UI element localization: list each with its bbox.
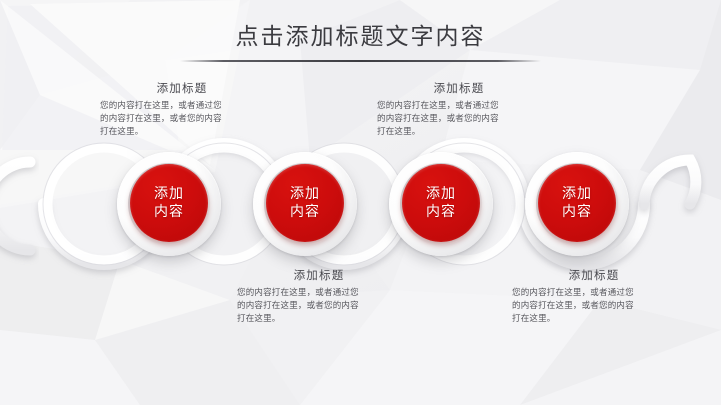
- node-disc-1[interactable]: 添加 内容: [130, 164, 208, 242]
- text-line: 打在这里。: [512, 313, 680, 326]
- node-disc-3[interactable]: 添加 内容: [402, 164, 480, 242]
- node-label-2-line1: 添加: [290, 185, 320, 203]
- text-line: 打在这里。: [100, 126, 268, 139]
- text-line: 的内容打在这里，或者您的内容: [100, 113, 268, 126]
- node-label-3-line2: 内容: [426, 203, 456, 221]
- node-disc-4[interactable]: 添加 内容: [538, 164, 616, 242]
- text-block-bottom-left-title: 添加标题: [233, 267, 405, 283]
- text-line: 您的内容打在这里，或者通过您: [237, 287, 405, 300]
- text-block-top-right-title: 添加标题: [373, 80, 545, 96]
- node-circle-1[interactable]: 添加 内容: [117, 152, 221, 256]
- text-block-top-left-body: 您的内容打在这里，或者通过您 的内容打在这里，或者您的内容 打在这里。: [96, 100, 268, 139]
- title-divider: [180, 60, 541, 62]
- text-block-bottom-right-title: 添加标题: [508, 267, 680, 283]
- text-line: 打在这里。: [377, 126, 545, 139]
- text-block-bottom-left: 添加标题 您的内容打在这里，或者通过您 的内容打在这里，或者您的内容 打在这里。: [233, 267, 405, 326]
- text-block-top-right: 添加标题 您的内容打在这里，或者通过您 的内容打在这里，或者您的内容 打在这里。: [373, 80, 545, 139]
- text-block-top-right-body: 您的内容打在这里，或者通过您 的内容打在这里，或者您的内容 打在这里。: [373, 100, 545, 139]
- page-title-text: 点击添加标题文字内容: [0, 22, 721, 52]
- node-label-1-line1: 添加: [154, 185, 184, 203]
- text-block-top-left: 添加标题 您的内容打在这里，或者通过您 的内容打在这里，或者您的内容 打在这里。: [96, 80, 268, 139]
- slide-canvas: 点击添加标题文字内容: [0, 0, 721, 405]
- text-line: 的内容打在这里，或者您的内容: [237, 300, 405, 313]
- node-label-4-line1: 添加: [562, 185, 592, 203]
- node-label-4-line2: 内容: [562, 203, 592, 221]
- text-line: 您的内容打在这里，或者通过您: [512, 287, 680, 300]
- node-circle-2[interactable]: 添加 内容: [253, 152, 357, 256]
- text-block-bottom-left-body: 您的内容打在这里，或者通过您 的内容打在这里，或者您的内容 打在这里。: [233, 287, 405, 326]
- text-line: 打在这里。: [237, 313, 405, 326]
- node-circle-3[interactable]: 添加 内容: [389, 152, 493, 256]
- node-circle-4[interactable]: 添加 内容: [525, 152, 629, 256]
- page-title: 点击添加标题文字内容: [0, 22, 721, 52]
- text-line: 的内容打在这里，或者您的内容: [512, 300, 680, 313]
- node-label-1-line2: 内容: [154, 203, 184, 221]
- text-line: 的内容打在这里，或者您的内容: [377, 113, 545, 126]
- text-line: 您的内容打在这里，或者通过您: [377, 100, 545, 113]
- node-label-3-line1: 添加: [426, 185, 456, 203]
- text-block-bottom-right: 添加标题 您的内容打在这里，或者通过您 的内容打在这里，或者您的内容 打在这里。: [508, 267, 680, 326]
- text-line: 您的内容打在这里，或者通过您: [100, 100, 268, 113]
- text-block-top-left-title: 添加标题: [96, 80, 268, 96]
- node-label-2-line2: 内容: [290, 203, 320, 221]
- text-block-bottom-right-body: 您的内容打在这里，或者通过您 的内容打在这里，或者您的内容 打在这里。: [508, 287, 680, 326]
- node-disc-2[interactable]: 添加 内容: [266, 164, 344, 242]
